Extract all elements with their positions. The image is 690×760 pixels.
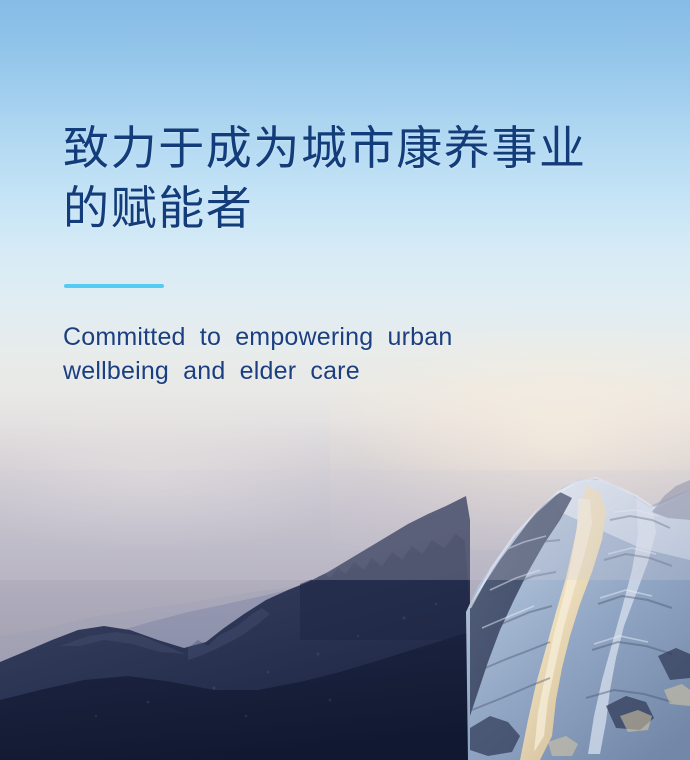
page-title: 致力于成为城市康养事业 的赋能者 <box>63 118 623 238</box>
atmospheric-haze-overlay <box>0 470 690 580</box>
hero-banner: 致力于成为城市康养事业 的赋能者 Committed to empowering… <box>0 0 690 760</box>
accent-divider <box>64 284 164 288</box>
page-subtitle: Committed to empowering urban wellbeing … <box>63 320 623 388</box>
hero-copy-block: 致力于成为城市康养事业 的赋能者 Committed to empowering… <box>63 118 623 388</box>
